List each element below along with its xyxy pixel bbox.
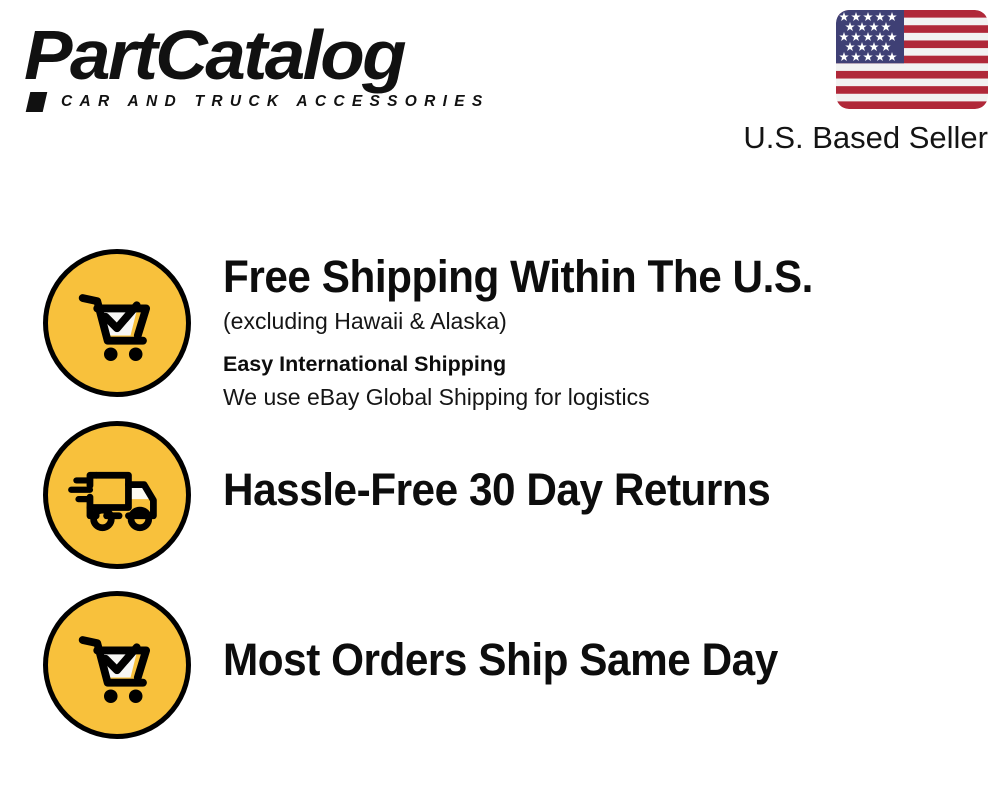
benefit-title: Most Orders Ship Same Day <box>223 635 953 685</box>
benefit-text: Most Orders Ship Same Day <box>223 591 1000 685</box>
partcatalog-logo: PartCatalog CAR AND TRUCK ACCESSORIES <box>24 20 494 115</box>
benefit-text: Free Shipping Within The U.S. (excluding… <box>223 249 1000 412</box>
delivery-truck-icon <box>43 421 191 569</box>
benefit-subnote: We use eBay Global Shipping for logistic… <box>223 382 1000 412</box>
benefit-row: Hassle-Free 30 Day Returns <box>0 421 1000 569</box>
benefit-row: Most Orders Ship Same Day <box>0 591 1000 739</box>
benefit-title: Hassle-Free 30 Day Returns <box>223 465 953 515</box>
benefit-text: Hassle-Free 30 Day Returns <box>223 421 1000 515</box>
benefit-row: Free Shipping Within The U.S. (excluding… <box>0 249 1000 412</box>
brand-tagline-row: CAR AND TRUCK ACCESSORIES <box>28 92 494 112</box>
shopping-cart-check-icon <box>43 591 191 739</box>
promo-banner: PartCatalog CAR AND TRUCK ACCESSORIES <box>0 0 1000 800</box>
brand-wordmark: PartCatalog <box>24 20 513 90</box>
brand-tagline: CAR AND TRUCK ACCESSORIES <box>61 93 490 111</box>
us-flag-icon <box>836 10 988 109</box>
us-based-seller-block: U.S. Based Seller <box>836 10 988 109</box>
benefit-note: (excluding Hawaii & Alaska) <box>223 306 1000 336</box>
logo-slash-mark <box>26 92 48 112</box>
shopping-cart-check-icon <box>43 249 191 397</box>
benefit-subtitle: Easy International Shipping <box>223 350 1000 378</box>
us-based-seller-label: U.S. Based Seller <box>743 118 988 158</box>
benefit-title: Free Shipping Within The U.S. <box>223 252 953 302</box>
